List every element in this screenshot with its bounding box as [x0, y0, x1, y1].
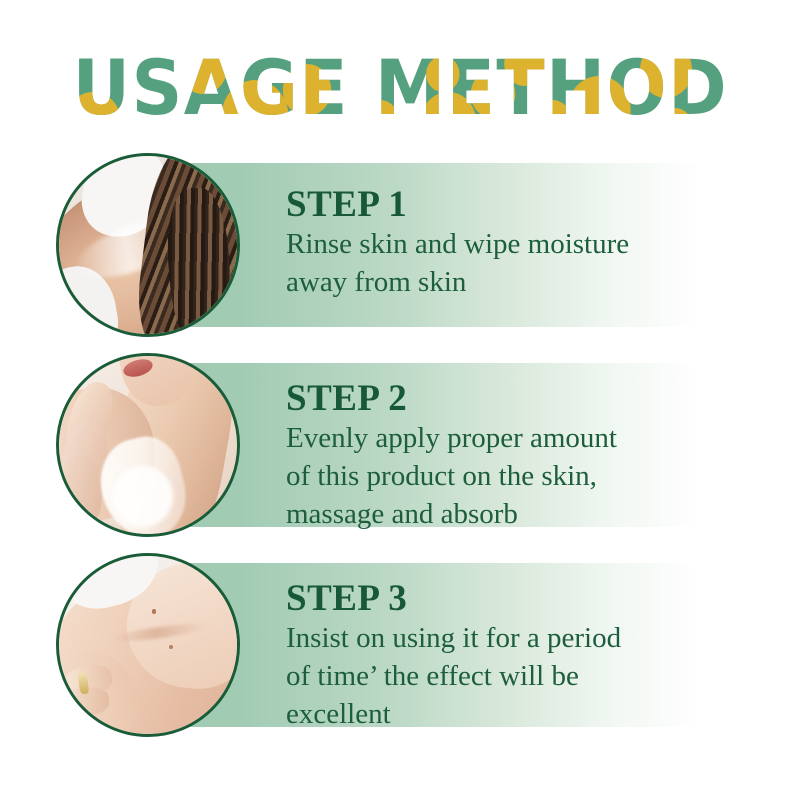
step-1-text: STEP 1 Rinse skin and wipe moisture away… — [286, 185, 746, 302]
step-3-body-line-3: excellent — [286, 696, 746, 734]
step-2-body: Evenly apply proper amount of this produ… — [286, 420, 746, 533]
page-title: USAGE METHOD USAGE METHOD — [0, 38, 800, 138]
step-3-body-line-1: Insist on using it for a period — [286, 620, 746, 658]
step-2-text: STEP 2 Evenly apply proper amount of thi… — [286, 379, 746, 533]
title-text-base: USAGE METHOD — [72, 50, 727, 126]
title-stack: USAGE METHOD USAGE METHOD — [48, 50, 753, 126]
step-3-text: STEP 3 Insist on using it for a period o… — [286, 579, 746, 733]
step-card-2: STEP 2 Evenly apply proper amount of thi… — [58, 363, 758, 527]
step-1-heading: STEP 1 — [286, 185, 746, 224]
step-2-heading: STEP 2 — [286, 379, 746, 418]
step-1-body-line-1: Rinse skin and wipe moisture — [286, 226, 746, 264]
step-3-photo-circle — [56, 553, 240, 737]
step-2-body-line-2: of this product on the skin, — [286, 458, 746, 496]
applying-lotion-photo — [59, 356, 237, 534]
step-2-body-line-3: massage and absorb — [286, 496, 746, 534]
step-3-heading: STEP 3 — [286, 579, 746, 618]
usage-method-infographic: USAGE METHOD USAGE METHOD STEP 1 Rinse s… — [0, 0, 800, 800]
bare-shoulder-photo — [59, 556, 237, 734]
step-1-body: Rinse skin and wipe moisture away from s… — [286, 226, 746, 301]
step-2-photo-circle — [56, 353, 240, 537]
step-3-body-line-2: of time’ the effect will be — [286, 658, 746, 696]
step-2-body-line-1: Evenly apply proper amount — [286, 420, 746, 458]
step-card-1: STEP 1 Rinse skin and wipe moisture away… — [58, 163, 758, 327]
step-1-photo-circle — [56, 153, 240, 337]
step-card-3: STEP 3 Insist on using it for a period o… — [58, 563, 758, 727]
wet-shoulder-photo — [59, 156, 237, 334]
step-3-body: Insist on using it for a period of time’… — [286, 620, 746, 733]
step-1-body-line-2: away from skin — [286, 264, 746, 302]
